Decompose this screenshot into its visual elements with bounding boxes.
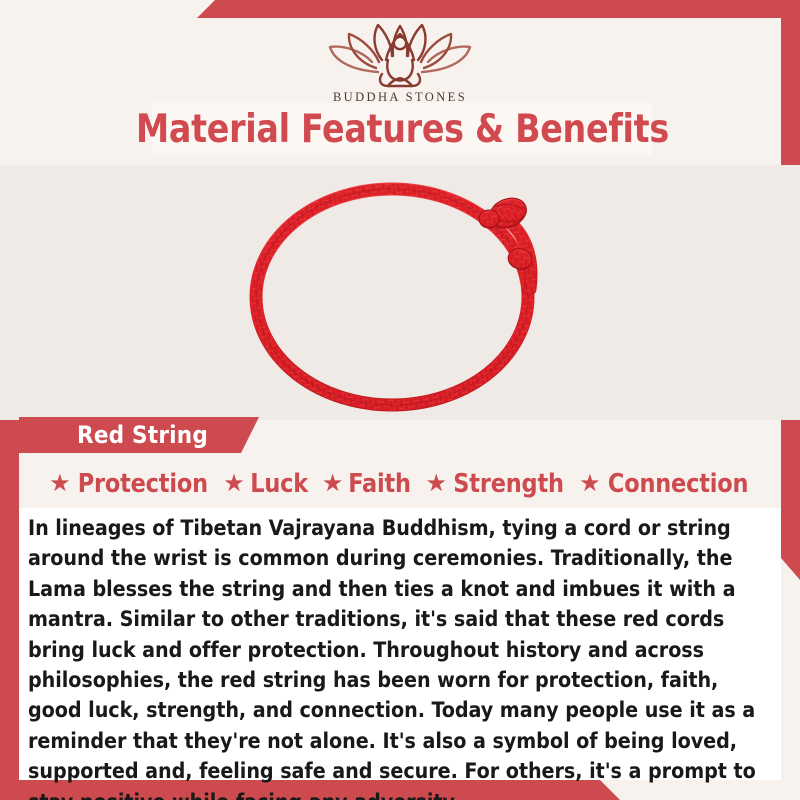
feature-label: Luck bbox=[250, 469, 308, 499]
material-name: Red String bbox=[77, 421, 208, 449]
page-title: Material Features & Benefits bbox=[136, 107, 669, 152]
product-image-panel bbox=[0, 165, 800, 420]
star-icon: ★ bbox=[426, 472, 448, 496]
brand-logo: BUDDHA STONES bbox=[0, 20, 800, 105]
decorative-top-bar bbox=[0, 0, 800, 18]
star-icon: ★ bbox=[579, 472, 601, 496]
infographic-poster: BUDDHA STONES Material Features & Benefi… bbox=[0, 0, 800, 800]
feature-item-luck: ★ Luck bbox=[223, 469, 309, 499]
feature-item-protection: ★ Protection bbox=[49, 469, 210, 499]
star-icon: ★ bbox=[49, 472, 71, 496]
feature-label: Faith bbox=[349, 469, 411, 499]
feature-label: Strength bbox=[453, 469, 563, 499]
feature-list: ★ Protection ★ Luck ★ Faith ★ Strength ★… bbox=[19, 462, 781, 506]
feature-item-strength: ★ Strength bbox=[426, 469, 567, 499]
feature-label: Connection bbox=[608, 469, 748, 499]
lotus-meditation-figure-icon bbox=[320, 20, 480, 88]
feature-item-connection: ★ Connection bbox=[579, 469, 751, 499]
feature-label: Protection bbox=[77, 469, 207, 499]
description-panel: In lineages of Tibetan Vajrayana Buddhis… bbox=[19, 508, 781, 780]
page-title-band: Material Features & Benefits bbox=[152, 103, 652, 155]
red-braided-bracelet-image bbox=[240, 173, 560, 413]
star-icon: ★ bbox=[322, 472, 344, 496]
description-text: In lineages of Tibetan Vajrayana Buddhis… bbox=[28, 514, 767, 800]
star-icon: ★ bbox=[223, 472, 245, 496]
feature-item-faith: ★ Faith bbox=[322, 469, 413, 499]
material-ribbon: Red String bbox=[19, 417, 259, 453]
